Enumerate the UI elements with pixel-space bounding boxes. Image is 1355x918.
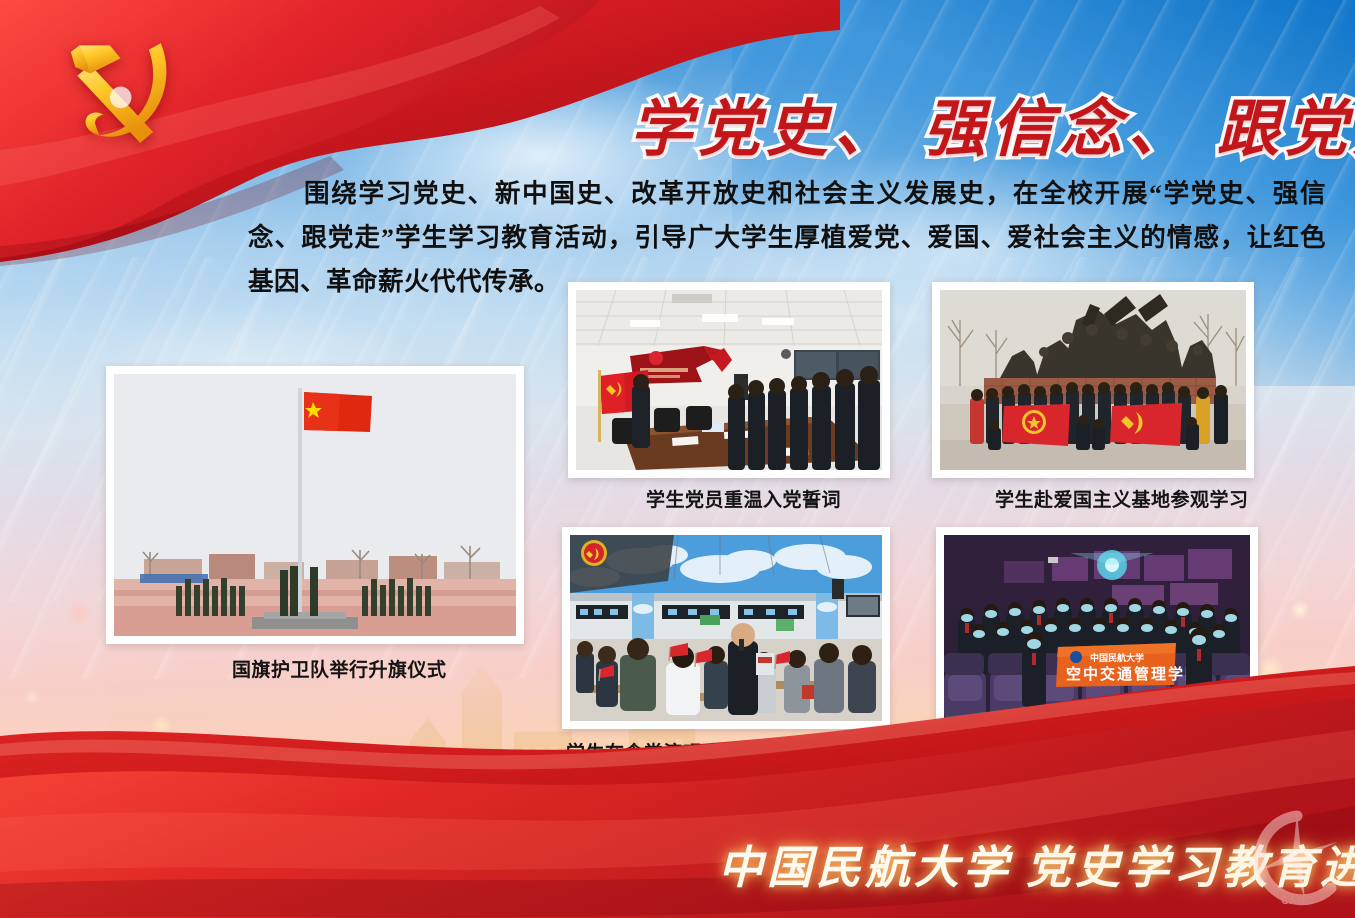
photo-image-flag-ceremony	[114, 374, 516, 636]
bottom-banner-school-name: 中国民航大学	[718, 843, 1012, 893]
photo-caption-party-oath: 学生党员重温入党誓词	[646, 485, 841, 512]
photo-image-party-oath	[576, 290, 882, 470]
cauc-logo-watermark-icon: CAUC	[1245, 808, 1349, 914]
poster-title: 学党史、 强信念、 跟党走	[630, 78, 1330, 168]
poster-canvas: 学党史、 强信念、 跟党走 围绕学习党史、新中国史、改革开放史和社会主义发展史，…	[0, 0, 1355, 918]
photo-card-party-oath[interactable]	[568, 282, 890, 478]
photo-card-memorial-visit[interactable]	[932, 282, 1254, 478]
photo-caption-memorial-visit: 学生赴爱国主义基地参观学习	[995, 485, 1249, 512]
photo-image-memorial-visit	[940, 290, 1246, 470]
cauc-logo-text: CAUC	[1281, 895, 1313, 907]
cpc-party-emblem-icon	[60, 30, 190, 155]
photo-card-flag-ceremony[interactable]	[106, 366, 524, 644]
